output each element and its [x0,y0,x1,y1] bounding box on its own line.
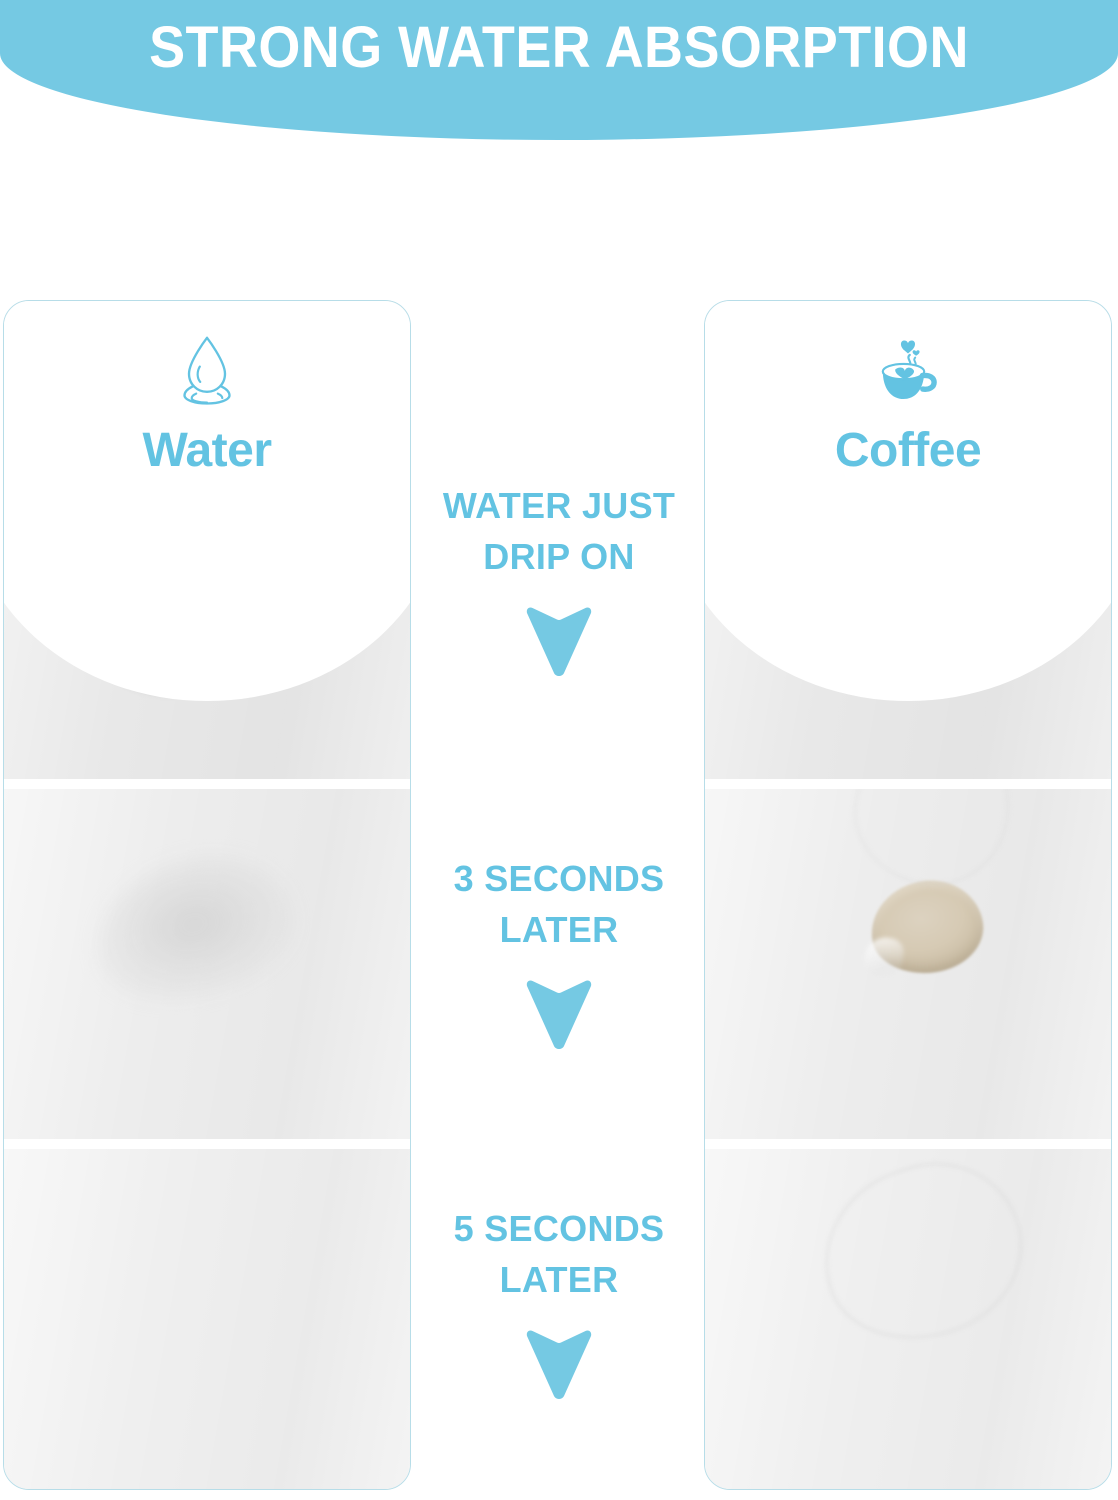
step-3-line-2: LATER [414,1254,704,1305]
step-2: 3 SECONDS LATER [414,853,704,1051]
step-1-line-1: WATER JUST [414,480,704,531]
header-banner: STRONG WATER ABSORPTION [0,0,1118,140]
coffee-cup-heart-icon [863,327,953,417]
water-panel-label: Water [4,423,410,478]
water-damp-patch [81,837,308,1017]
water-row-2 [4,789,410,1139]
panel-coffee: Coffee [704,300,1112,1490]
steps-column: WATER JUST DRIP ON 3 SECONDS LATER 5 SEC… [414,300,704,1500]
step-2-line-2: LATER [414,904,704,955]
chevron-down-icon [521,604,597,678]
step-1: WATER JUST DRIP ON [414,480,704,678]
step-3: 5 SECONDS LATER [414,1203,704,1401]
chevron-down-icon [521,1327,597,1401]
step-2-line-1: 3 SECONDS [414,853,704,904]
coffee-ghost-mark-a [802,1149,1045,1364]
coffee-ghost-mark-b [843,789,1021,897]
water-drop-ripple-icon [162,327,252,417]
coffee-panel-label: Coffee [705,423,1111,478]
page-title: STRONG WATER ABSORPTION [39,0,1079,96]
chevron-down-icon [521,977,597,1051]
water-row-3 [4,1149,410,1490]
coffee-faded-stain [865,874,989,981]
coffee-panel-header: Coffee [705,301,1111,478]
coffee-row-3 [705,1149,1111,1490]
step-3-line-1: 5 SECONDS [414,1203,704,1254]
panel-water: Water [3,300,411,1490]
water-panel-header: Water [4,301,410,478]
coffee-row-2 [705,789,1111,1139]
step-1-line-2: DRIP ON [414,531,704,582]
